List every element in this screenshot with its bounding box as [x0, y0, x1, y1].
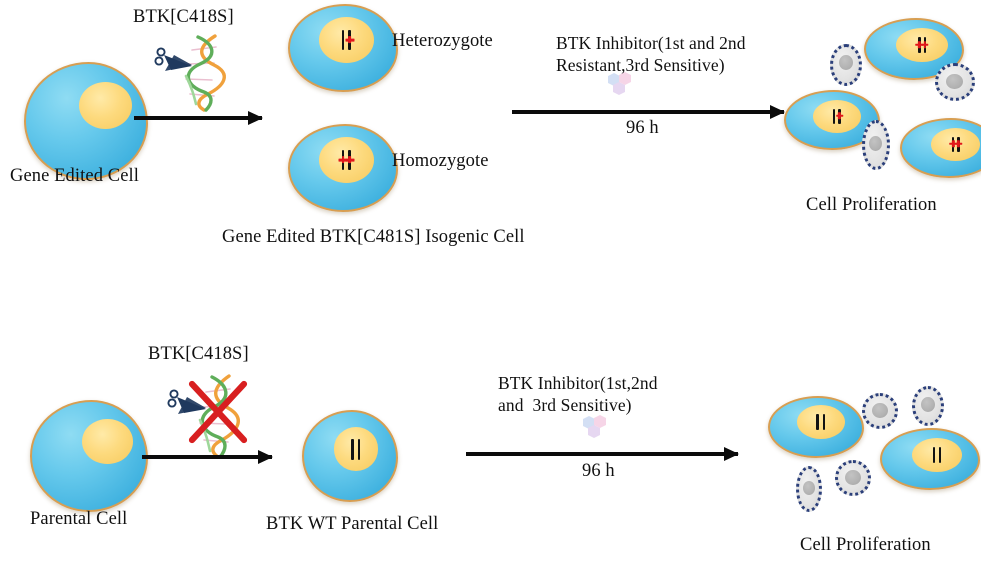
dead-cell-nucleus [803, 481, 815, 495]
btk-wt-parental-cell-label: BTK WT Parental Cell [266, 513, 438, 536]
gene-edited-cell [24, 62, 148, 180]
cell-nucleus [82, 419, 133, 464]
arrow-shaft [512, 110, 784, 114]
dead-cell [862, 120, 890, 170]
dna-helix-svg [164, 370, 254, 462]
dna-scissors-blocked-icon [164, 370, 254, 462]
mutation-mark [345, 159, 354, 162]
allele-bars-heterozygote [813, 100, 861, 133]
arrow-head [724, 447, 739, 461]
allele-bar-mutant [348, 150, 351, 170]
allele-bar-wt [933, 447, 936, 463]
allele-bar-wt [939, 447, 942, 463]
cell-nucleus [79, 82, 132, 129]
allele-bar-mutant [924, 37, 927, 53]
top-duration-label: 96 h [626, 117, 659, 140]
bottom-outcome-label: Cell Proliferation [800, 534, 931, 557]
allele-bars-homozygote [319, 137, 374, 183]
allele-bars-wildtype [334, 427, 378, 470]
mutation-mark [955, 143, 963, 145]
figure-canvas: Gene Edited Cell BTK[C418S] [0, 0, 981, 563]
drug-molecule-icon [600, 72, 638, 104]
allele-bar-mutant [342, 150, 345, 170]
gene-edited-cell-label: Gene Edited Cell [10, 165, 139, 188]
heterozygote-label: Heterozygote [392, 30, 493, 53]
allele-bar-wt [351, 439, 354, 460]
proliferating-cell-wildtype [768, 396, 864, 458]
dead-cell [830, 44, 862, 86]
allele-bar-wt [816, 414, 819, 430]
red-x-icon [192, 384, 244, 440]
dead-cell-nucleus [921, 397, 935, 412]
dead-cell-nucleus [839, 55, 853, 70]
arrow-shaft [466, 452, 738, 456]
allele-bars-heterozygote [319, 17, 374, 63]
bottom-treatment-line1: BTK Inhibitor(1st,2nd [498, 372, 658, 394]
dead-cell [912, 386, 944, 426]
allele-bar-mutant [957, 137, 960, 152]
allele-bars-homozygote [931, 128, 980, 161]
mutation-mark [345, 39, 354, 42]
top-outcome-label: Cell Proliferation [806, 194, 937, 217]
allele-bars-homozygote [896, 28, 948, 62]
homozygote-cell [288, 124, 398, 212]
isogenic-cell-caption: Gene Edited BTK[C481S] Isogenic Cell [222, 226, 525, 249]
arrow-head [248, 111, 263, 125]
dna-helix-svg [152, 30, 238, 114]
top-treatment-line2: Resistant,3rd Sensitive) [556, 54, 725, 76]
dead-cell [935, 63, 975, 101]
drug-molecule-icon [575, 415, 613, 447]
allele-bar-wt [358, 439, 361, 460]
mutation-mark [921, 44, 929, 46]
btk-wt-parental-cell [302, 410, 398, 502]
arrow-head [770, 105, 785, 119]
allele-bar-mutant [838, 109, 841, 124]
proliferating-cell-homozygote [900, 118, 981, 178]
arrow-shaft [134, 116, 262, 120]
dead-cell [796, 466, 822, 512]
arrow-head [258, 450, 273, 464]
arrow-shaft [142, 455, 272, 459]
parental-cell [30, 400, 148, 512]
dead-cell-nucleus [845, 470, 861, 485]
bottom-duration-label: 96 h [582, 460, 615, 483]
dead-cell-nucleus [946, 74, 963, 89]
allele-bar-wt [342, 30, 345, 50]
dead-cell-nucleus [872, 403, 888, 418]
dna-scissors-icon [152, 30, 238, 114]
dead-cell [835, 460, 871, 496]
bottom-edit-label: BTK[C418S] [148, 343, 249, 366]
allele-bars-wildtype [912, 438, 962, 472]
allele-bar-wt [823, 414, 826, 430]
allele-bars-wildtype [797, 405, 845, 439]
allele-bar-mutant [348, 30, 351, 50]
proliferating-cell-wildtype [880, 428, 980, 490]
dead-cell [862, 393, 898, 429]
parental-cell-label: Parental Cell [30, 508, 127, 531]
bottom-treatment-line2: and 3rd Sensitive) [498, 394, 632, 416]
top-treatment-line1: BTK Inhibitor(1st and 2nd [556, 32, 746, 54]
heterozygote-cell [288, 4, 398, 92]
homozygote-label: Homozygote [392, 150, 489, 173]
scissors-icon [155, 48, 192, 71]
top-edit-label: BTK[C418S] [133, 6, 234, 29]
mutation-mark [836, 115, 844, 117]
